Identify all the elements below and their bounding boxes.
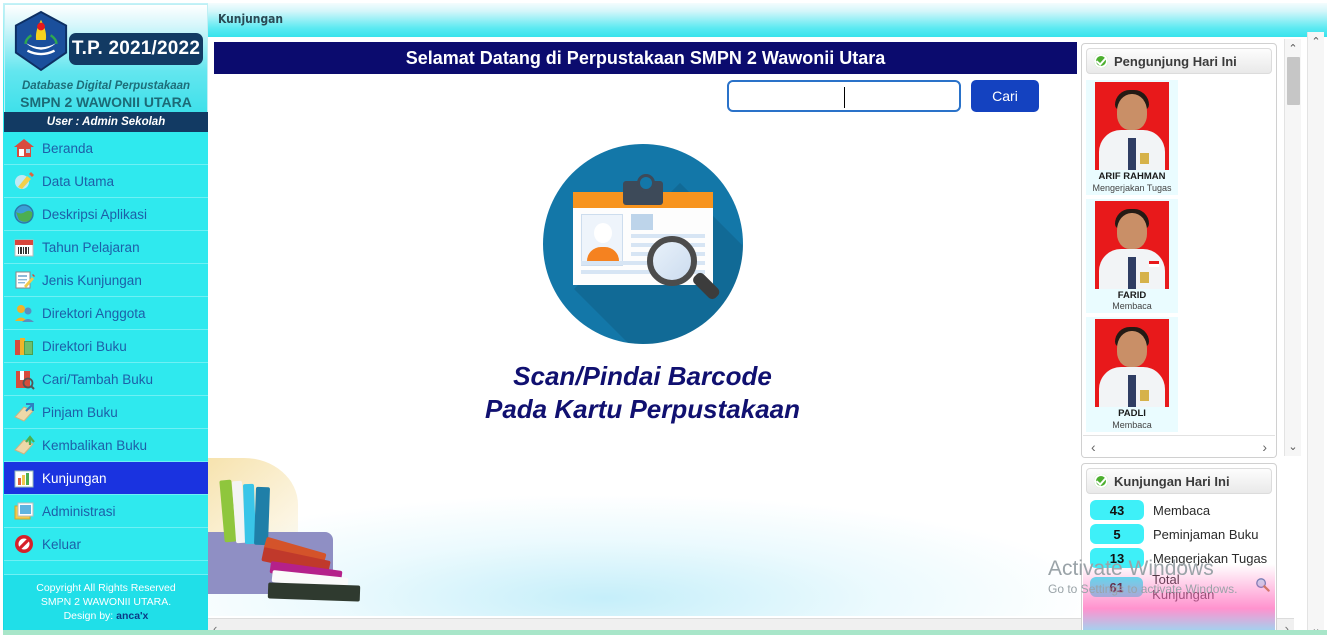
brand-header: T.P. 2021/2022 Database Digital Perpusta…	[4, 4, 208, 112]
visitors-pager: ‹ ›	[1083, 435, 1275, 457]
sidebar-item-pinjam-buku[interactable]: Pinjam Buku	[4, 396, 208, 429]
search-row: Cari	[214, 80, 1077, 118]
gallery-icon	[13, 500, 35, 522]
search-button[interactable]: Cari	[971, 80, 1039, 112]
text-caret	[844, 87, 845, 108]
copyright-line-3: Design by: anca'x	[8, 609, 204, 623]
page-vertical-scrollbar[interactable]: ⌃ ⌄	[1307, 32, 1324, 638]
stat-count: 43	[1090, 500, 1144, 520]
sidebar-item-data-utama[interactable]: Data Utama	[4, 165, 208, 198]
scan-line-1: Scan/Pindai Barcode	[208, 360, 1077, 393]
magnifier-icon	[647, 236, 697, 286]
visitor-name: FARID	[1086, 291, 1178, 302]
photo-tie	[1128, 257, 1136, 289]
visitors-next-button[interactable]: ›	[1262, 439, 1267, 455]
stats-panel-title: Kunjungan Hari Ini	[1114, 474, 1230, 489]
visitor-card[interactable]: PADLI Membaca	[1086, 317, 1178, 432]
sidebar-label: Jenis Kunjungan	[42, 273, 142, 288]
school-logo-icon	[12, 10, 70, 72]
stat-count: 5	[1090, 524, 1144, 544]
breadcrumb: Kunjungan	[218, 11, 283, 26]
sidebar-item-beranda[interactable]: Beranda	[4, 132, 208, 165]
top-bar: Kunjungan	[208, 0, 1330, 38]
book-red	[261, 547, 330, 575]
sidebar-item-administrasi[interactable]: Administrasi	[4, 495, 208, 528]
school-year-badge: T.P. 2021/2022	[69, 33, 203, 65]
visitor-card[interactable]: ARIF RAHMAN Mengerjakan Tugas	[1086, 80, 1178, 195]
page-title: Selamat Datang di Perpustakaan SMPN 2 Wa…	[214, 42, 1077, 74]
sidebar-item-cari-tambah-buku[interactable]: Cari/Tambah Buku	[4, 363, 208, 396]
stat-count: 61	[1090, 577, 1143, 597]
stats-panel: Kunjungan Hari Ini 43 Membaca 5 Peminjam…	[1081, 463, 1277, 638]
scroll-down-arrow[interactable]: ⌄	[1288, 437, 1297, 456]
book-out-icon	[13, 401, 35, 423]
book-blue	[254, 487, 270, 545]
stat-label: Total Kunjungan	[1152, 572, 1244, 602]
photo-head	[1117, 94, 1147, 130]
stat-row-total: 61 Total Kunjungan	[1082, 570, 1276, 604]
form-edit-icon	[13, 269, 35, 291]
book-in-icon	[13, 434, 35, 456]
sidebar-item-direktori-buku[interactable]: Direktori Buku	[4, 330, 208, 363]
right-column: Pengunjung Hari Ini ARIF RAHMAN Mengerja…	[1078, 39, 1286, 638]
books-decoration	[208, 456, 768, 616]
scroll-thumb[interactable]	[1287, 57, 1300, 105]
visitor-photo	[1095, 201, 1169, 289]
sidebar-label: Direktori Anggota	[42, 306, 146, 321]
stats-panel-header: Kunjungan Hari Ini	[1086, 468, 1272, 494]
sand-shape	[208, 458, 298, 536]
scan-line-2: Pada Kartu Perpustakaan	[208, 393, 1077, 426]
visitor-photo	[1095, 319, 1169, 407]
photo-tie	[1128, 375, 1136, 407]
book-green	[219, 480, 236, 543]
calendar-icon	[13, 236, 35, 258]
visitors-panel-title: Pengunjung Hari Ini	[1114, 54, 1237, 69]
visitor-activity: Mengerjakan Tugas	[1086, 183, 1178, 193]
copyright-line-1: Copyright All Rights Reserved	[8, 581, 204, 595]
application-window: T.P. 2021/2022 Database Digital Perpusta…	[0, 0, 1330, 638]
scan-illustration-block: Scan/Pindai Barcode Pada Kartu Perpustak…	[208, 144, 1077, 426]
sidebar-label: Deskripsi Aplikasi	[42, 207, 147, 222]
magnifier-lens	[647, 236, 697, 286]
avatar-head	[594, 223, 612, 243]
visitor-photo	[1095, 82, 1169, 170]
sidebar-label: Cari/Tambah Buku	[42, 372, 153, 387]
avatar-body	[587, 247, 619, 261]
photo-tie	[1128, 138, 1136, 170]
pencil-icon	[13, 170, 35, 192]
visitors-prev-button[interactable]: ‹	[1091, 439, 1096, 455]
search-magnifier-icon[interactable]	[1255, 577, 1270, 597]
globe-icon	[13, 203, 35, 225]
sidebar-label: Data Utama	[42, 174, 114, 189]
sidebar-item-direktori-anggota[interactable]: Direktori Anggota	[4, 297, 208, 330]
sidebar-label: Tahun Pelajaran	[42, 240, 140, 255]
stat-label: Mengerjakan Tugas	[1153, 551, 1267, 566]
sidebar-item-kembalikan-buku[interactable]: Kembalikan Buku	[4, 429, 208, 462]
sidebar-menu: Beranda Data Utama Deskripsi Aplikasi Ta…	[4, 132, 208, 575]
water-decoration	[208, 496, 1088, 616]
visitor-name: PADLI	[1086, 409, 1178, 420]
check-circle-icon	[1094, 474, 1108, 488]
photo-badge	[1140, 272, 1149, 283]
stat-row: 13 Mengerjakan Tugas	[1082, 546, 1276, 570]
books-icon	[13, 335, 35, 357]
designer-name: anca'x	[116, 610, 148, 622]
visitors-panel: Pengunjung Hari Ini ARIF RAHMAN Mengerja…	[1081, 43, 1277, 458]
book-white2	[272, 570, 349, 590]
photo-badge	[1140, 390, 1149, 401]
sidebar-label: Kunjungan	[42, 471, 107, 486]
visitor-name: ARIF RAHMAN	[1086, 172, 1178, 183]
photo-badge	[1140, 153, 1149, 164]
stat-row: 43 Membaca	[1082, 498, 1276, 522]
visitors-panel-header: Pengunjung Hari Ini	[1086, 48, 1272, 74]
stat-label: Peminjaman Buku	[1153, 527, 1259, 542]
book-white	[232, 481, 246, 544]
design-by-label: Design by:	[64, 610, 114, 622]
chart-book-icon	[13, 467, 35, 489]
no-entry-icon	[13, 533, 35, 555]
book-cyan	[243, 484, 256, 544]
stat-row: 5 Peminjaman Buku	[1082, 522, 1276, 546]
photo-head	[1117, 213, 1147, 249]
sidebar-item-kunjungan[interactable]: Kunjungan	[4, 462, 208, 495]
card-photo	[581, 214, 623, 266]
sidebar-label: Beranda	[42, 141, 93, 156]
sidebar-label: Kembalikan Buku	[42, 438, 147, 453]
book-orange	[263, 537, 326, 567]
visitor-activity: Membaca	[1086, 420, 1178, 430]
sidebar-label: Keluar	[42, 537, 81, 552]
sidebar-item-keluar[interactable]: Keluar	[4, 528, 208, 561]
stat-count: 13	[1090, 548, 1144, 568]
sidebar-item-deskripsi-aplikasi[interactable]: Deskripsi Aplikasi	[4, 198, 208, 231]
book-black	[268, 582, 361, 601]
brand-school-name: SMPN 2 WAWONII UTARA	[5, 94, 207, 110]
sidebar-item-tahun-pelajaran[interactable]: Tahun Pelajaran	[4, 231, 208, 264]
book-search-icon	[13, 368, 35, 390]
scroll-up-arrow[interactable]: ⌃	[1311, 32, 1320, 51]
sidebar-copyright: Copyright All Rights Reserved SMPN 2 WAW…	[4, 575, 208, 634]
visitors-vertical-scrollbar[interactable]: ⌃ ⌄	[1284, 39, 1301, 456]
sidebar: T.P. 2021/2022 Database Digital Perpusta…	[4, 4, 208, 634]
users-icon	[13, 302, 35, 324]
clipboard-clip	[623, 181, 663, 205]
sidebar-label: Pinjam Buku	[42, 405, 118, 420]
book-magenta	[270, 561, 343, 583]
scan-instruction: Scan/Pindai Barcode Pada Kartu Perpustak…	[208, 360, 1077, 426]
photo-flag	[1149, 261, 1159, 267]
sidebar-item-jenis-kunjungan[interactable]: Jenis Kunjungan	[4, 264, 208, 297]
photo-head	[1117, 331, 1147, 367]
visitor-activity: Membaca	[1086, 301, 1178, 311]
barcode-scan-icon	[543, 144, 743, 344]
brand-subtitle: Database Digital Perpustakaan	[5, 80, 207, 92]
sidebar-spacer	[4, 561, 208, 575]
visitor-card-grid: ARIF RAHMAN Mengerjakan Tugas FARID Memb…	[1082, 78, 1276, 458]
sidebar-label: Direktori Buku	[42, 339, 127, 354]
stat-label: Membaca	[1153, 503, 1210, 518]
card-block	[631, 214, 653, 230]
user-bar: User : Admin Sekolah	[4, 112, 208, 132]
sidebar-label: Administrasi	[42, 504, 116, 519]
check-circle-icon	[1094, 54, 1108, 68]
desktop-background-strip	[0, 630, 1330, 638]
copyright-line-2: SMPN 2 WAWONII UTARA.	[8, 595, 204, 609]
desk-shape	[208, 532, 333, 594]
visitor-card[interactable]: FARID Membaca	[1086, 199, 1178, 314]
scroll-up-arrow[interactable]: ⌃	[1288, 39, 1297, 58]
search-input-wrapper[interactable]	[727, 80, 961, 112]
home-icon	[13, 137, 35, 159]
